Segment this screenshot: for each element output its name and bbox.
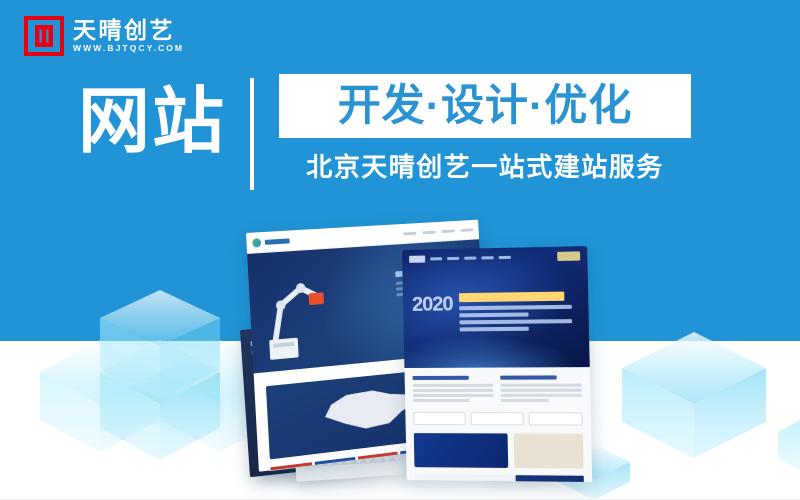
brand-website: WWW.BJTQCY.COM <box>73 44 184 53</box>
brand-name: 天晴创艺 <box>73 19 184 42</box>
page-title: 网站 <box>78 86 226 158</box>
promo-banner: 2020 <box>0 0 800 500</box>
mockup-logo-icon <box>252 238 261 247</box>
mockup-industry-summit-site: 2020 <box>402 246 592 482</box>
keywords-text: 开发·设计·优化 <box>338 85 633 128</box>
keywords-box: 开发·设计·优化 <box>279 74 691 138</box>
headline-divider <box>250 78 254 190</box>
robot-arm-illustration <box>261 262 336 362</box>
subtitle-text: 北京天晴创艺一站式建站服务 <box>279 154 691 180</box>
brand-logo[interactable]: 天晴创艺 WWW.BJTQCY.COM <box>24 16 184 56</box>
headline-block: 网站 开发·设计·优化 北京天晴创艺一站式建站服务 <box>78 74 691 190</box>
tianqing-square-logo-icon <box>24 16 64 56</box>
mockup-year-label: 2020 <box>412 293 453 317</box>
